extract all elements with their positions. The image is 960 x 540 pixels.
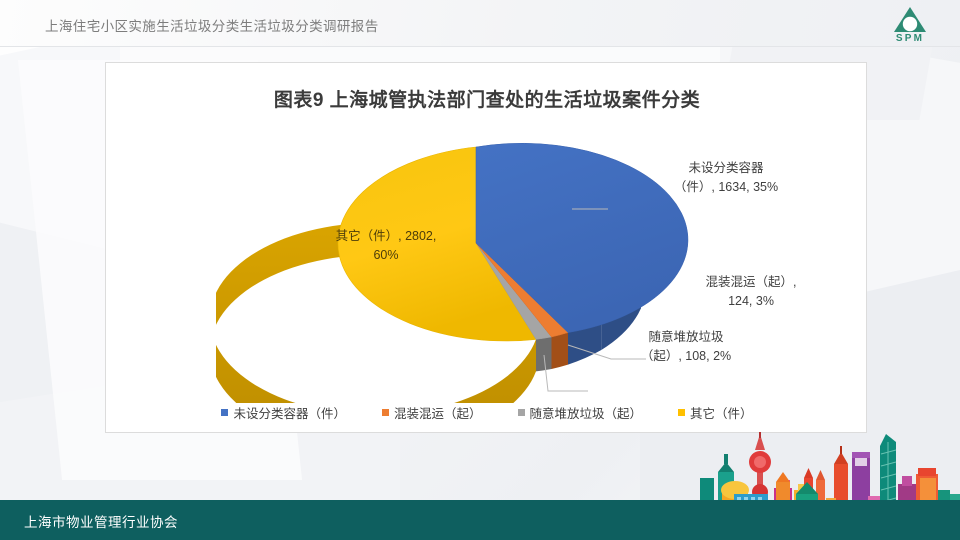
legend-item-no-container[interactable]: 未设分类容器（件） [221, 403, 346, 422]
legend-swatch-icon [221, 409, 228, 416]
chart-panel: 图表9 上海城管执法部门查处的生活垃圾案件分类 [105, 62, 867, 433]
legend-swatch-icon [678, 409, 685, 416]
data-label-line: 未设分类容器 [646, 159, 806, 178]
data-label-line: （起）, 108, 2% [611, 347, 761, 366]
data-label-line: 混装混运（起）, [676, 273, 826, 292]
data-label-line: 其它（件）, 2802, [301, 227, 471, 246]
chart-legend: 未设分类容器（件） 混装混运（起） 随意堆放垃圾（起） 其它（件） [106, 403, 868, 422]
data-label-line: 60% [301, 246, 471, 265]
data-label-other: 其它（件）, 2802, 60% [301, 227, 471, 265]
data-label-no-container: 未设分类容器 （件）, 1634, 35% [646, 159, 806, 197]
header-divider [0, 46, 960, 47]
spm-triangle-logo-icon: SPM [880, 5, 940, 45]
header-title: 上海住宅小区实施生活垃圾分类生活垃圾分类调研报告 [45, 15, 379, 35]
data-label-line: （件）, 1634, 35% [646, 178, 806, 197]
shanghai-skyline-illustration-icon [700, 432, 960, 510]
slide-footer: 上海市物业管理行业协会 [0, 500, 960, 540]
legend-item-random-dumping[interactable]: 随意堆放垃圾（起） [518, 403, 643, 422]
legend-item-mixed-transport[interactable]: 混装混运（起） [382, 403, 482, 422]
footer-text: 上海市物业管理行业协会 [24, 511, 178, 531]
data-label-random-dumping: 随意堆放垃圾 （起）, 108, 2% [611, 328, 761, 366]
slide-root: 上海住宅小区实施生活垃圾分类生活垃圾分类调研报告 SPM 图表9 上海城管执法部… [0, 0, 960, 540]
legend-item-other[interactable]: 其它（件） [678, 403, 753, 422]
data-label-line: 随意堆放垃圾 [611, 328, 761, 347]
pie-chart: 未设分类容器 （件）, 1634, 35% 混装混运（起）, 124, 3% 随… [106, 63, 868, 434]
pie-depth-gray [536, 337, 552, 371]
logo-text: SPM [880, 33, 940, 44]
legend-label: 随意堆放垃圾（起） [530, 403, 643, 422]
data-label-line: 124, 3% [676, 292, 826, 311]
slide-header: 上海住宅小区实施生活垃圾分类生活垃圾分类调研报告 SPM [0, 0, 960, 47]
legend-label: 混装混运（起） [394, 403, 482, 422]
legend-swatch-icon [518, 409, 525, 416]
legend-swatch-icon [382, 409, 389, 416]
legend-label: 其它（件） [690, 403, 753, 422]
legend-label: 未设分类容器（件） [233, 403, 346, 422]
pie-depth-orange [552, 333, 569, 369]
data-label-mixed-transport: 混装混运（起）, 124, 3% [676, 273, 826, 311]
